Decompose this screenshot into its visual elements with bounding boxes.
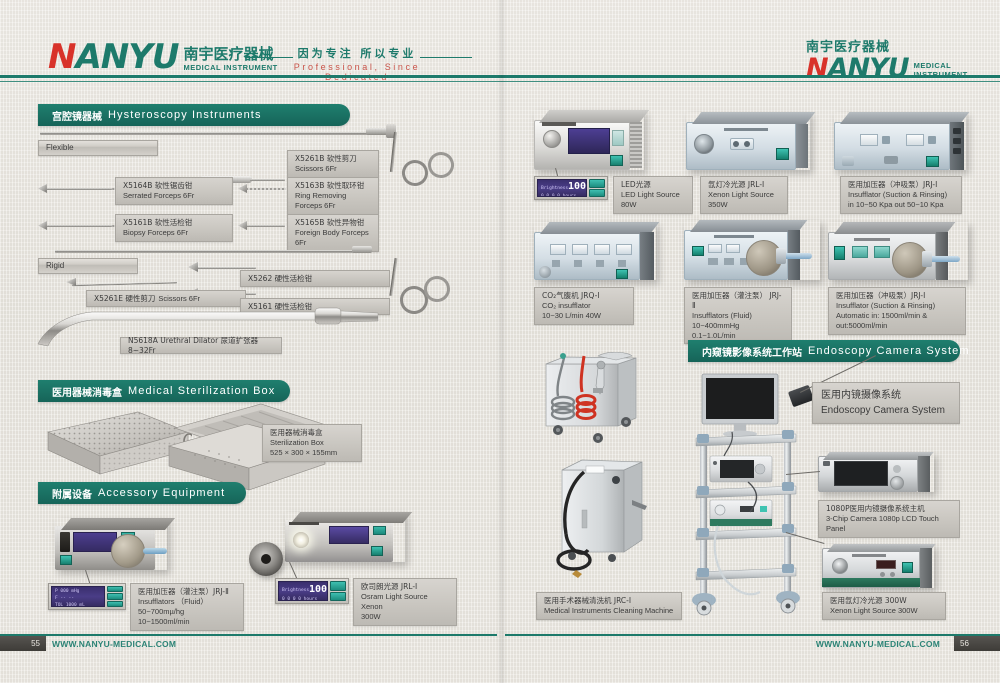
insufflator-lcd-button-up[interactable] [107,586,123,592]
accessory-label-insufflator-en: Insufflators （Fluid） [138,597,236,607]
device-label-co2-en: CO₂ insufflator [542,301,626,311]
camera-ccu-button[interactable] [893,465,901,473]
endoscopy-trolley-svg [688,372,828,620]
insufflator-suction2-power-button[interactable] [834,246,845,260]
accessory-label-osram-spec: 300W [361,612,449,622]
section-header-hysteroscopy-en: Hysteroscopy Instruments [108,109,262,121]
insufflator-fluid2-power-button[interactable] [692,246,704,256]
catalog-page: NANYU 南宇医疗器械 MEDICAL INSTRUMENT 因为专注 所以专… [0,0,1000,683]
brand-letter-n: N [48,37,75,77]
co2-button-4[interactable] [618,260,626,267]
insufflator-suction-connector [842,156,854,166]
device-label-xenon: 氙灯冷光源 JRL-Ⅰ Xenon Light Source 350W [700,176,788,214]
insufflator-fluid-lcd-inset: P 000 mHg F -- -- TOL 1000 mL [48,583,126,610]
accessory-label-osram: 欧司朗光源 JRL-Ⅰ Osram Light Source Xenon 300… [353,578,457,626]
accessory-label-insufflator: 医用加压器（灌注泵）JRJ-Ⅱ Insufflators （Fluid） 50~… [130,583,244,631]
camera-system-label-main-en: Endoscopy Camera System [821,404,951,417]
device-label-insufflator-suction2: 医用加压器（冲吸泵）JRJ-Ⅰ Insufflator (Suction & R… [828,287,966,335]
instrument-shaft-f3 [250,179,285,181]
xenon-button-b[interactable] [744,141,750,147]
instrument-jaw-r2 [188,262,198,272]
led-lcd-hours: 0 0 0 0 hours [541,194,576,197]
device-label-insufflator-fluid2-cn: 医用加压器（灌注泵） JRJ-Ⅱ [692,291,784,311]
device-label-cleaning-machine: 医用手术器械清洗机 JRC-Ⅰ Medical Instruments Clea… [536,592,682,620]
led-lcd-value: 100 [568,181,586,192]
slogan-divider-right [420,57,472,58]
led-button-panel[interactable] [612,130,624,146]
xenon300-green-band [822,578,920,587]
osram-lcd-hours: 0 0 0 0 hours [282,597,317,601]
instrument-label-r2: X5262 硬性活检钳 [240,270,390,287]
section-header-accessory-cn: 附属设备 [52,486,92,501]
co2-display-2 [572,244,588,255]
insufflator-fluid2-device-image [684,220,820,280]
sterilization-box-label: 医用器械消毒盒 Sterilization Box 525 × 300 × 15… [262,424,362,462]
insufflator-fluid2-button-1[interactable] [708,258,718,265]
led-side-vent [630,122,642,168]
accessory-label-osram-en: Osram Light Source Xenon [361,592,449,612]
insufflator-suction-display-1 [860,134,878,146]
brand-logo-left: NANYU 南宇医疗器械 MEDICAL INSTRUMENT [48,40,278,74]
camera-system-label-xenon300: 医用氙灯冷光源 300W Xenon Light Source 300W [822,592,946,620]
osram-light-cable-connector [249,542,283,576]
section-header-sterilization-cn: 医用器械消毒盒 [52,384,122,399]
osram-connector-bore [261,554,271,564]
co2-button-3[interactable] [596,260,604,267]
insufflator-fluid-left-switch [60,532,70,552]
instrument-label-f4-en: Ring Removing Forceps 6Fr [295,191,371,211]
xenon-side-panel [796,124,808,168]
instrument-shaft-r2 [196,267,256,269]
instrument-label-f4-cn: X5163B 软性取环钳 [295,181,371,191]
footer-rule-left [0,634,497,636]
instrument-label-f1-cn: X5164B 软性锯齿钳 [123,181,225,191]
insufflator-lcd-button-mid[interactable] [107,593,123,599]
cleaning-machine-bottom-svg [548,452,668,582]
xenon-button-a[interactable] [733,141,739,147]
camera-ccu-connector [890,476,904,490]
brand-letters-anyu: ANYU [75,37,178,77]
xenon300-power-button[interactable] [902,562,913,573]
osram-lcd-inset: Brightness 100 % 0 0 0 0 hours [275,578,349,604]
instrument-label-f4: X5163B 软性取环钳 Ring Removing Forceps 6Fr [287,177,379,215]
camera-ccu-device-image [818,452,934,492]
section-header-hysteroscopy-cn: 宫腔镜器械 [52,108,102,123]
xenon-brand-strip [724,128,768,131]
hysteroscope-shaft-mid [55,250,355,253]
brand-name-cn: 南宇医疗器械 [183,47,277,63]
camera-system-label-ccu-cn: 1080P医用内镜摄像系统主机 [826,504,952,514]
camera-system-label-xenon300-en: Xenon Light Source 300W [830,606,938,616]
forceps-handle-shaft-2 [389,258,397,296]
camera-system-label-xenon300-cn: 医用氙灯冷光源 300W [830,596,938,606]
cleaning-machine-top-image [536,352,656,457]
brand-wordmark: NANYU [48,40,178,74]
insufflator-suction-port-1 [953,128,961,134]
insufflator-suction2-device-image [828,222,968,280]
xenon-light-port [694,134,714,154]
device-label-cleaning-machine-cn: 医用手术器械清洗机 JRC-Ⅰ [544,596,674,606]
instrument-label-f2-cn: X5161B 软性活检钳 [123,218,225,228]
accessory-label-osram-cn: 欧司朗光源 JRL-Ⅰ [361,582,449,592]
co2-display-4 [616,244,632,255]
insufflator-fluid-device-image [55,518,167,570]
accessory-label-insufflator-spec: 50~700mµ/hg 10~1500ml/min [138,607,236,627]
device-label-xenon-spec: 350W [708,200,780,210]
osram-screen [329,526,369,544]
xenon-light-source-device-image [686,112,810,170]
instrument-label-f3-en: Scissors 6Fr [295,164,371,174]
instrument-jaw-f1 [38,184,47,193]
instrument-label-r4-cn: N5618A Urethral Dilator 尿道扩张器 8~32Fr [128,336,271,356]
osram-lcd-label: Brightness [282,588,309,593]
hysteroscope-hub-top [366,128,388,135]
device-label-led-cn: LED光源 [621,180,685,190]
xenon300-brand-strip [852,554,886,557]
sterilization-box-label-spec: 525 × 300 × 155mm [270,448,354,458]
footer-url-right[interactable]: WWW.NANYU-MEDICAL.COM [816,639,940,649]
instrument-jaw-r1 [66,278,76,286]
led-lcd-button-down[interactable] [589,189,605,198]
osram-power-button[interactable] [371,546,383,556]
xenon300-device-image [822,544,934,588]
camera-ccu-touch-panel[interactable] [834,461,888,486]
osram-lcd-button-up[interactable] [330,581,346,591]
device-label-led-spec: 80W [621,200,685,210]
led-lcd-inset: Brightness 100 % 0 0 0 0 hours [534,176,608,200]
instrument-jaw-f2 [38,221,47,230]
insufflator-suction-port-2 [953,138,961,144]
insufflator-lcd-line1: P 000 mHg [55,589,79,594]
led-lcd-buttons[interactable] [589,179,605,197]
camera-system-label-main: 医用内镜摄像系统 Endoscopy Camera System [812,382,960,424]
device-label-xenon-en: Xenon Light Source [708,190,780,200]
page-number-left: 55 [31,639,40,648]
instrument-label-f2-en: Biopsy Forceps 6Fr [123,228,225,238]
instrument-coil-f4 [246,188,286,190]
device-label-insufflator-suction-cn: 医用加压器（冲吸泵）JRJ-Ⅰ [848,180,954,190]
endoscopy-trolley-image [688,372,828,625]
device-label-xenon-cn: 氙灯冷光源 JRL-Ⅰ [708,180,780,190]
instrument-shaft-f2 [42,225,112,227]
insufflator-suction-display-2 [906,134,924,146]
co2-gas-port [539,266,551,278]
section-header-sterilization: 医用器械消毒盒 Medical Sterilization Box [38,380,290,402]
camera-system-label-ccu-en: 3-Chip Camera 1080p LCD Touch Panel [826,514,952,534]
forceps-ring-1b [425,149,458,182]
insufflator-suction-button-1[interactable] [882,136,890,144]
co2-side-panel [640,232,654,280]
insufflator-suction-power-button[interactable] [926,156,939,167]
section-header-hysteroscopy: 宫腔镜器械 Hysteroscopy Instruments [38,104,350,126]
insufflator-fluid-pump-rotor [111,534,145,568]
sterilization-box-label-cn: 医用器械消毒盒 [270,428,354,438]
instrument-label-f5-en: Foreign Body Forceps 6Fr [295,228,371,248]
instrument-label-f3: X5261B 软性剪刀 Scissors 6Fr [287,150,379,178]
xenon-power-button[interactable] [776,148,789,160]
section-header-sterilization-en: Medical Sterilization Box [128,385,275,397]
instrument-label-f3-cn: X5261B 软性剪刀 [295,154,371,164]
led-power-button[interactable] [610,155,623,166]
co2-display-3 [594,244,610,255]
footer-rule-right [505,634,1000,636]
insufflator-lcd-line2: F -- -- [55,596,74,601]
device-label-insufflator-suction: 医用加压器（冲吸泵）JRJ-Ⅰ Insufflator (Suction & R… [840,176,962,214]
insufflator-fluid-lcd-screen: P 000 mHg F -- -- TOL 1000 mL [51,586,105,607]
cleaning-machine-bottom-image [548,452,668,587]
insufflator-suction-button-2[interactable] [928,136,936,144]
brand-letters-anyu-right: ANYU [828,53,909,84]
insufflator-suction-port-3 [953,148,961,154]
co2-display-1 [550,244,566,255]
group-tag-rigid: Rigid [38,258,138,274]
insufflator-fluid-power-button[interactable] [60,555,72,565]
brand-sub-en: MEDICAL INSTRUMENT [183,63,277,72]
osram-lcd-buttons[interactable] [330,581,346,601]
brand-letter-n-right: N [806,53,828,84]
device-label-cleaning-machine-en: Medical Instruments Cleaning Machine [544,606,674,616]
osram-lamp-port [293,532,309,548]
xenon-top-panel [692,112,815,124]
insufflator-fluid2-valve [776,248,786,264]
group-tag-flexible: Flexible [38,140,158,156]
led-brightness-knob[interactable] [543,130,561,148]
group-tag-flexible-label: Flexible [46,143,74,154]
instrument-label-f1-en: Serrated Forceps 6Fr [123,191,225,201]
led-brand-strip [542,122,576,126]
device-label-insufflator-fluid2: 医用加压器（灌注泵） JRJ-Ⅱ Insufflators (Fluid) 10… [684,287,792,344]
osram-lcd-value: 100 [309,584,327,595]
insufflator-suction-device-image [834,112,966,170]
hysteroscope-hub-mid [352,246,372,253]
device-label-insufflator-fluid2-spec: 10~400mmHg 0.1~1.0L/min [692,321,784,341]
instrument-jaw-f5 [238,221,247,230]
instrument-label-f5-cn: X5165B 软性异物钳 [295,218,371,228]
hysteroscope-shaft-top [40,132,370,135]
cleaning-machine-top-svg [536,352,656,452]
xenon300-side-panel [920,548,932,588]
co2-button-1[interactable] [552,260,560,267]
device-label-led: LED光源 LED Light Source 80W [613,176,693,214]
osram-light-source-device-image [285,512,405,562]
section-header-camera-system: 内窥镜影像系统工作站 Endoscopy Camera System [688,340,960,362]
osram-label-strip [289,522,319,525]
camera-ccu-side-panel [918,456,930,492]
co2-insufflator-device-image [534,222,656,280]
group-tag-rigid-label: Rigid [46,261,64,272]
co2-button-2[interactable] [574,260,582,267]
insufflator-fluid2-button-2[interactable] [724,258,734,265]
section-header-accessory: 附属设备 Accessory Equipment [38,482,246,504]
insufflator-lcd-line3: TOL 1000 mL [55,603,85,607]
page-number-right: 56 [960,639,969,648]
device-label-insufflator-suction-en: Insufflator (Suction & Rinsing) [848,190,954,200]
insufflator-suction2-brand-strip [854,238,890,241]
insufflator-fluid-top-panel [61,518,175,530]
osram-lcd-button-down[interactable] [330,592,346,602]
camera-system-label-ccu: 1080P医用内镜摄像系统主机 3-Chip Camera 1080p LCD … [818,500,960,538]
led-lcd-button-up[interactable] [589,179,605,188]
section-header-camera-system-en: Endoscopy Camera System [808,345,970,357]
page-gutter [497,0,507,683]
section-header-accessory-en: Accessory Equipment [98,487,225,499]
brand-sub-en-line1: MEDICAL [914,61,968,70]
slogan-en: Professional, Since Dedicated [272,62,442,82]
device-label-led-en: LED Light Source [621,190,685,200]
instrument-label-r4: N5618A Urethral Dilator 尿道扩张器 8~32Fr [120,337,282,354]
instrument-label-r2-cn: X5262 硬性活检钳 [248,274,312,284]
xenon300-display [876,560,896,569]
footer-url-left[interactable]: WWW.NANYU-MEDICAL.COM [52,639,176,649]
page-number-badge-left: 55 [0,636,46,651]
device-label-insufflator-suction2-spec: Automatic in: 1500ml/min & out:5000ml/mi… [836,311,958,331]
device-label-co2: CO₂气腹机 JRQ-Ⅰ CO₂ insufflator 10~30 L/min… [534,287,634,325]
insufflator-fluid-tube [143,548,167,554]
xenon300-button-1[interactable] [880,572,885,577]
insufflator-lcd-buttons[interactable] [107,586,123,607]
page-number-badge-right: 56 [954,636,1000,651]
device-label-insufflator-suction-spec: in 10~50 Kpa out 50~10 Kpa [848,200,954,210]
device-label-co2-spec: 10~30 L/min 40W [542,311,626,321]
instrument-shaft-f5 [245,225,285,227]
device-label-co2-cn: CO₂气腹机 JRQ-Ⅰ [542,291,626,301]
device-label-insufflator-suction2-en: Insufflator (Suction & Rinsing) [836,301,958,311]
insufflator-fluid2-display-1 [708,244,722,253]
insufflator-lcd-button-set[interactable] [107,601,123,607]
accessory-label-insufflator-cn: 医用加压器（灌注泵）JRJ-Ⅱ [138,587,236,597]
camera-system-label-main-cn: 医用内镜摄像系统 [821,389,951,402]
device-label-insufflator-fluid2-en: Insufflators (Fluid) [692,311,784,321]
insufflator-suction2-display-2 [874,246,890,258]
co2-power-button[interactable] [616,269,628,279]
led-lcd-label: Brightness [541,186,568,191]
device-label-insufflator-suction2-cn: 医用加压器（冲吸泵）JRJ-Ⅰ [836,291,958,301]
led-screen [568,128,610,154]
osram-lcd-screen: Brightness 100 % 0 0 0 0 hours [278,581,328,601]
xenon300-light-port [832,558,848,574]
instrument-label-f1: X5164B 软性锯齿钳 Serrated Forceps 6Fr [115,177,233,205]
insufflator-suction-nozzle [884,156,898,164]
insufflator-suction2-display-1 [852,246,868,258]
instrument-shaft-f1 [42,188,112,190]
sterilization-box-label-en: Sterilization Box [270,438,354,448]
section-header-camera-system-cn: 内窥镜影像系统工作站 [702,344,802,359]
osram-keypad [373,526,386,535]
insufflator-fluid2-display-2 [726,244,740,253]
slogan-cn: 因为专注 所以专业 [272,45,442,61]
led-lcd-screen: Brightness 100 % 0 0 0 0 hours [537,179,587,197]
led-light-source-device-image [534,110,644,170]
camera-ccu-indicator [823,461,830,466]
forceps-ring-1a [399,157,432,190]
instrument-label-f2: X5161B 软性活检钳 Biopsy Forceps 6Fr [115,214,233,242]
instrument-shaft-r1 [72,282,177,286]
insufflator-fluid2-brand-strip [714,235,754,238]
xenon300-button-2[interactable] [890,572,895,577]
insufflator-suction2-valve [922,251,932,267]
